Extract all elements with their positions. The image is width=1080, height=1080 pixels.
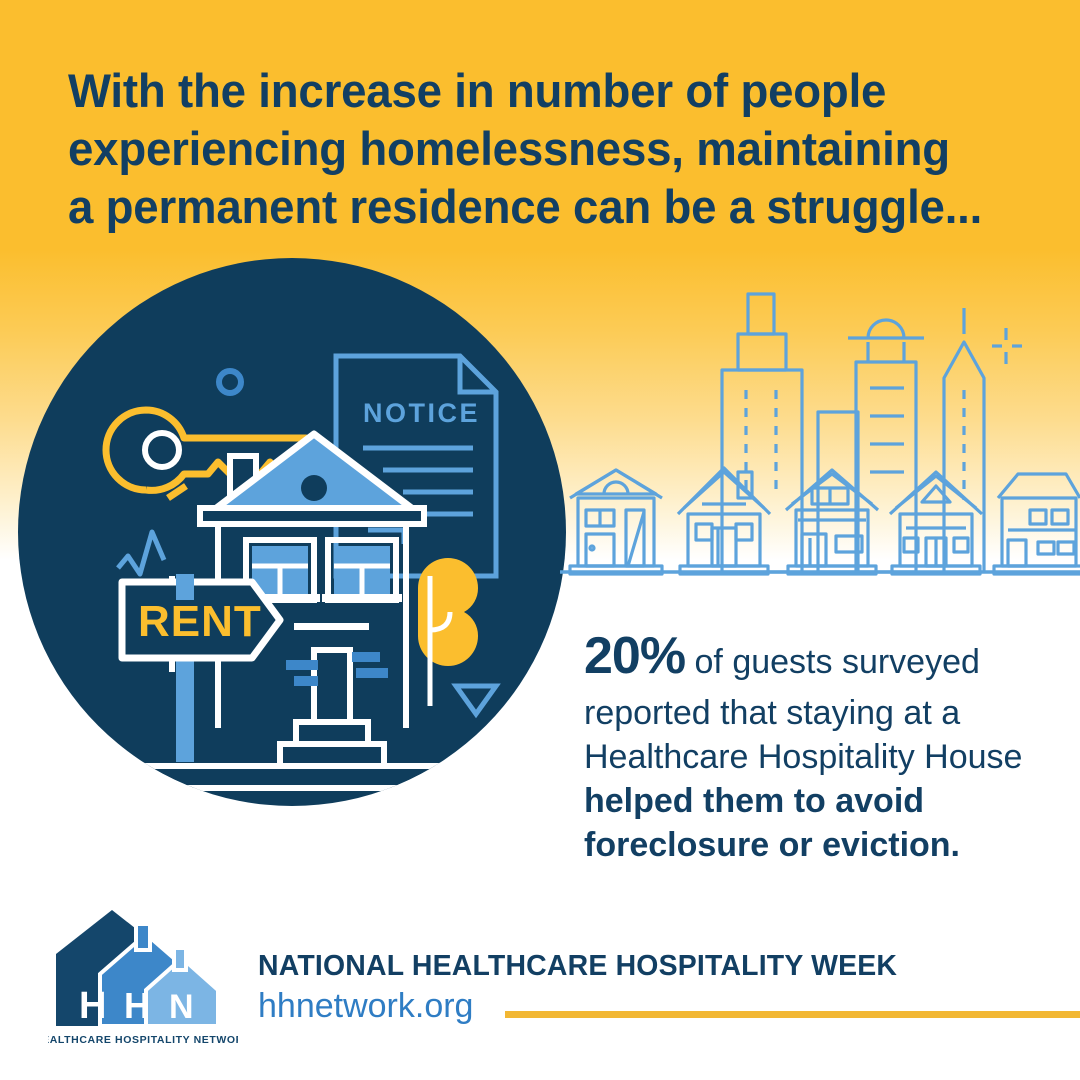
housing-struggle-illustration: NOTICE (18, 258, 566, 806)
row-house-2 (678, 468, 770, 574)
footer-title: NATIONAL HEALTHCARE HOSPITALITY WEEK (258, 950, 1052, 983)
tower-4 (944, 308, 984, 572)
tower-1 (722, 294, 802, 572)
stat-line-5: foreclosure or eviction. (584, 823, 1054, 867)
footer-accent-rule (505, 1011, 1080, 1018)
city-skyline-illustration (560, 272, 1080, 582)
stat-line-4: helped them to avoid (584, 779, 1054, 823)
notice-label: NOTICE (363, 398, 480, 428)
logo-letter-n: N (169, 988, 194, 1026)
statistic-block: 20% of guests surveyed reported that sta… (584, 634, 1054, 867)
logo-letter-h2: H (124, 985, 150, 1026)
hhn-logo: H H N HEALTHCARE HOSPITALITY NETWORK (48, 900, 238, 1050)
navy-circle-background (18, 258, 566, 806)
stat-line-3: Healthcare Hospitality House (584, 735, 1054, 779)
row-house-4 (890, 472, 982, 574)
sparkle-icon (992, 328, 1022, 364)
row-house-1 (570, 470, 662, 574)
logo-tagline: HEALTHCARE HOSPITALITY NETWORK (48, 1034, 238, 1046)
stat-line-1-text: of guests surveyed (685, 643, 980, 681)
rent-sign-label: RENT (138, 597, 262, 646)
footer-url[interactable]: hhnetwork.org (258, 987, 473, 1026)
tower-2 (818, 412, 858, 572)
ground-bar (106, 766, 506, 788)
row-house-5 (994, 474, 1080, 574)
stat-line-1: 20% of guests surveyed (584, 634, 1054, 691)
page-title: With the increase in number of people ex… (68, 62, 999, 236)
row-house-3 (786, 470, 878, 574)
logo-letter-h1: H (79, 985, 106, 1027)
house-window-right (322, 540, 402, 602)
stat-percentage: 20% (584, 627, 685, 685)
stat-line-2: reported that staying at a (584, 691, 1054, 735)
